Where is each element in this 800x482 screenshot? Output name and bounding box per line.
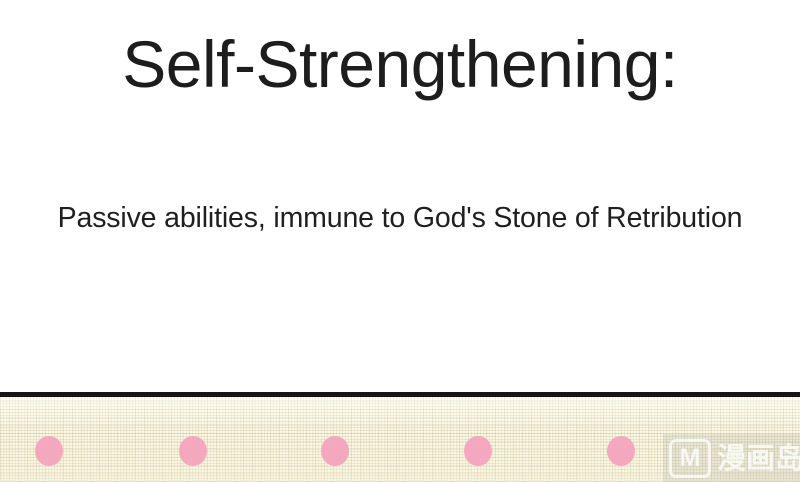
page-subtitle: Passive abilities, immune to God's Stone… [0,201,800,235]
canvas-texture [0,397,800,482]
comic-panel: Self-Strengthening: Passive abilities, i… [0,0,800,482]
footer-strip [0,397,800,482]
polka-dot [179,436,207,466]
polka-dot [607,436,635,466]
polka-dot [321,436,349,466]
text-panel: Self-Strengthening: Passive abilities, i… [0,0,800,393]
texture-sheen [0,397,800,482]
page-title: Self-Strengthening: [0,28,800,102]
polka-dot [464,436,492,466]
polka-dot [35,436,63,466]
